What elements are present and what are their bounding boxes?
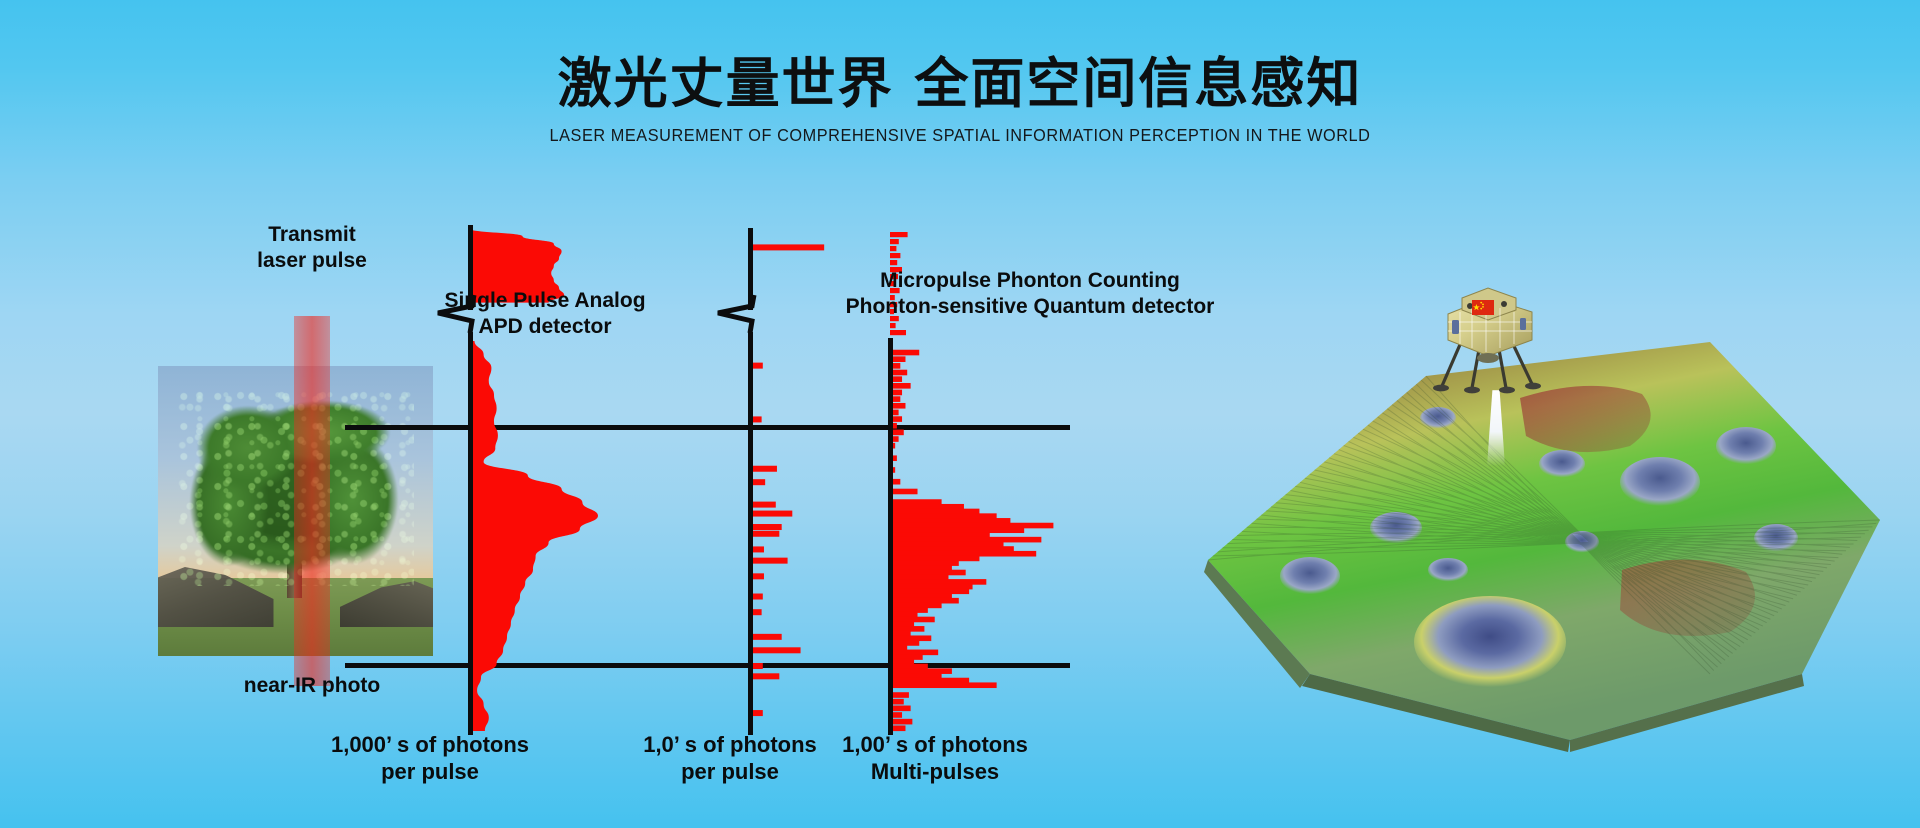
lander-engine-nozzle	[1477, 353, 1499, 363]
terrain-crater	[1539, 450, 1585, 478]
histogram-bar	[890, 260, 897, 265]
histogram-bar	[890, 323, 896, 328]
chart3-axis	[888, 338, 893, 735]
chart-dense-micropulse	[888, 338, 1078, 735]
page-title: 激光丈量世界 全面空间信息感知	[0, 54, 1920, 113]
histogram-bar	[890, 232, 908, 237]
histogram-bar	[890, 246, 896, 251]
caption-mid-photon-count: 1,0’ s of photons per pulse	[630, 732, 830, 786]
histogram-bar	[890, 330, 906, 335]
terrain-crater	[1716, 427, 1776, 465]
caption-right-photon-count: 1,00’ s of photons Multi-pulses	[820, 732, 1050, 786]
histogram-bar	[890, 383, 911, 389]
laser-beam-band	[294, 316, 330, 686]
lunar-lander	[1428, 284, 1558, 404]
lander-instrument	[1520, 318, 1526, 330]
terrain-crater	[1414, 596, 1566, 688]
label-apd-detector: Single Pulse Analog APD detector	[395, 288, 695, 339]
caption-left-photon-count: 1,000’ s of photons per pulse	[300, 732, 560, 786]
histogram-bar	[751, 244, 824, 250]
histogram-bar	[751, 479, 765, 485]
histogram-bar	[751, 502, 776, 508]
page-subtitle: LASER MEASUREMENT OF COMPREHENSIVE SPATI…	[67, 125, 1853, 146]
lander-instrument	[1452, 320, 1459, 334]
terrain-crater	[1620, 457, 1700, 507]
histogram-bar	[890, 682, 997, 688]
histogram-bar	[751, 524, 782, 530]
histogram-bar	[751, 673, 779, 679]
histogram-bar	[751, 531, 779, 537]
histogram-bar	[751, 511, 792, 517]
histogram-bar	[751, 466, 777, 472]
axis-break-icon	[712, 293, 758, 335]
histogram-bar	[890, 253, 900, 258]
label-transmit-laser-pulse: Transmit laser pulse	[222, 222, 402, 273]
histogram-bar	[890, 719, 912, 725]
histogram-bar	[890, 239, 899, 244]
chart2-axis-lower	[748, 332, 753, 735]
lander-footpads	[1433, 383, 1541, 394]
terrain-crater	[1280, 557, 1340, 595]
lander-svg	[1428, 284, 1558, 404]
china-flag-icon	[1472, 300, 1494, 315]
histogram-bar	[890, 350, 919, 356]
histogram-bar	[890, 489, 918, 495]
histogram-bar	[751, 647, 801, 653]
histogram-bar	[751, 558, 788, 564]
dense-histogram-svg	[888, 338, 1078, 735]
chart1-axis-lower	[468, 332, 473, 735]
poster-canvas: 激光丈量世界 全面空间信息感知 LASER MEASUREMENT OF COM…	[0, 0, 1920, 828]
terrain-crater	[1428, 558, 1468, 582]
label-near-ir-photo: near-IR photo	[212, 673, 412, 699]
histogram-bar	[751, 634, 782, 640]
poster-header: 激光丈量世界 全面空间信息感知 LASER MEASUREMENT OF COM…	[0, 0, 1920, 146]
histogram-bar	[890, 706, 911, 712]
lander-sensor	[1501, 301, 1507, 307]
